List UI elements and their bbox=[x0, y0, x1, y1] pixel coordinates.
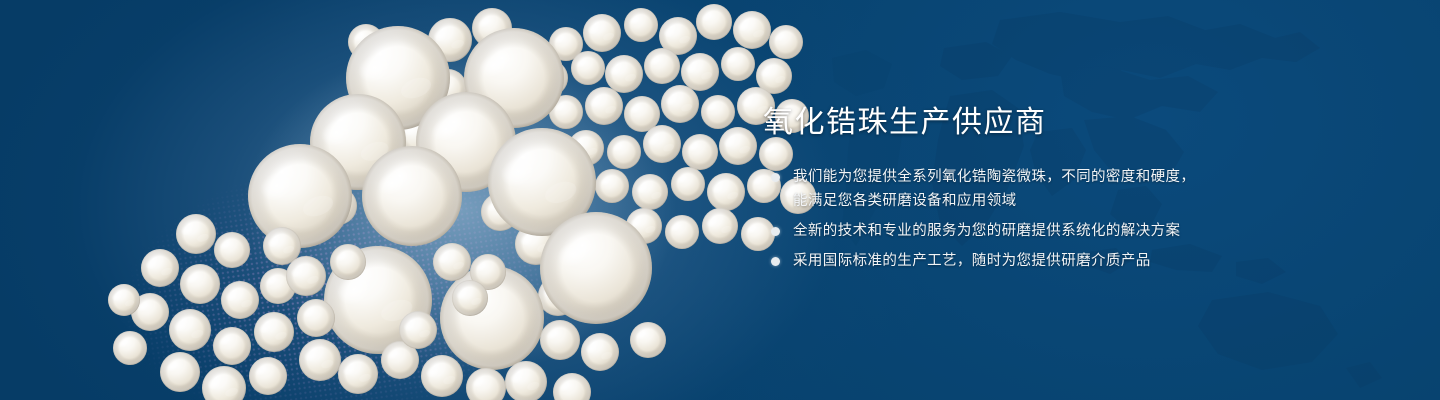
hero-banner: 氧化锆珠生产供应商 我们能为您提供全系列氧化锆陶瓷微珠，不同的密度和硬度， 能满… bbox=[0, 0, 1440, 400]
bullet-dot-icon bbox=[771, 257, 780, 266]
feature-list: 我们能为您提供全系列氧化锆陶瓷微珠，不同的密度和硬度， 能满足您各类研磨设备和应… bbox=[763, 165, 1383, 273]
list-item-line-1: 我们能为您提供全系列氧化锆陶瓷微珠，不同的密度和硬度， bbox=[793, 169, 1195, 185]
list-item: 我们能为您提供全系列氧化锆陶瓷微珠，不同的密度和硬度， 能满足您各类研磨设备和应… bbox=[763, 165, 1383, 213]
list-item-line-1: 全新的技术和专业的服务为您的研磨提供系统化的解决方案 bbox=[793, 223, 1180, 239]
list-item: 采用国际标准的生产工艺，随时为您提供研磨介质产品 bbox=[763, 249, 1383, 273]
bullet-dot-icon bbox=[771, 173, 780, 182]
list-item-line-2: 能满足您各类研磨设备和应用领域 bbox=[793, 193, 1017, 209]
list-item: 全新的技术和专业的服务为您的研磨提供系统化的解决方案 bbox=[763, 219, 1383, 243]
page-title: 氧化锆珠生产供应商 bbox=[763, 104, 1383, 142]
zirconia-beads-photo bbox=[0, 0, 820, 400]
banner-copy: 氧化锆珠生产供应商 我们能为您提供全系列氧化锆陶瓷微珠，不同的密度和硬度， 能满… bbox=[763, 104, 1383, 273]
bead-glow bbox=[150, 0, 770, 400]
list-item-line-1: 采用国际标准的生产工艺，随时为您提供研磨介质产品 bbox=[793, 253, 1151, 269]
halftone-texture bbox=[72, 72, 668, 400]
bullet-dot-icon bbox=[771, 227, 780, 236]
